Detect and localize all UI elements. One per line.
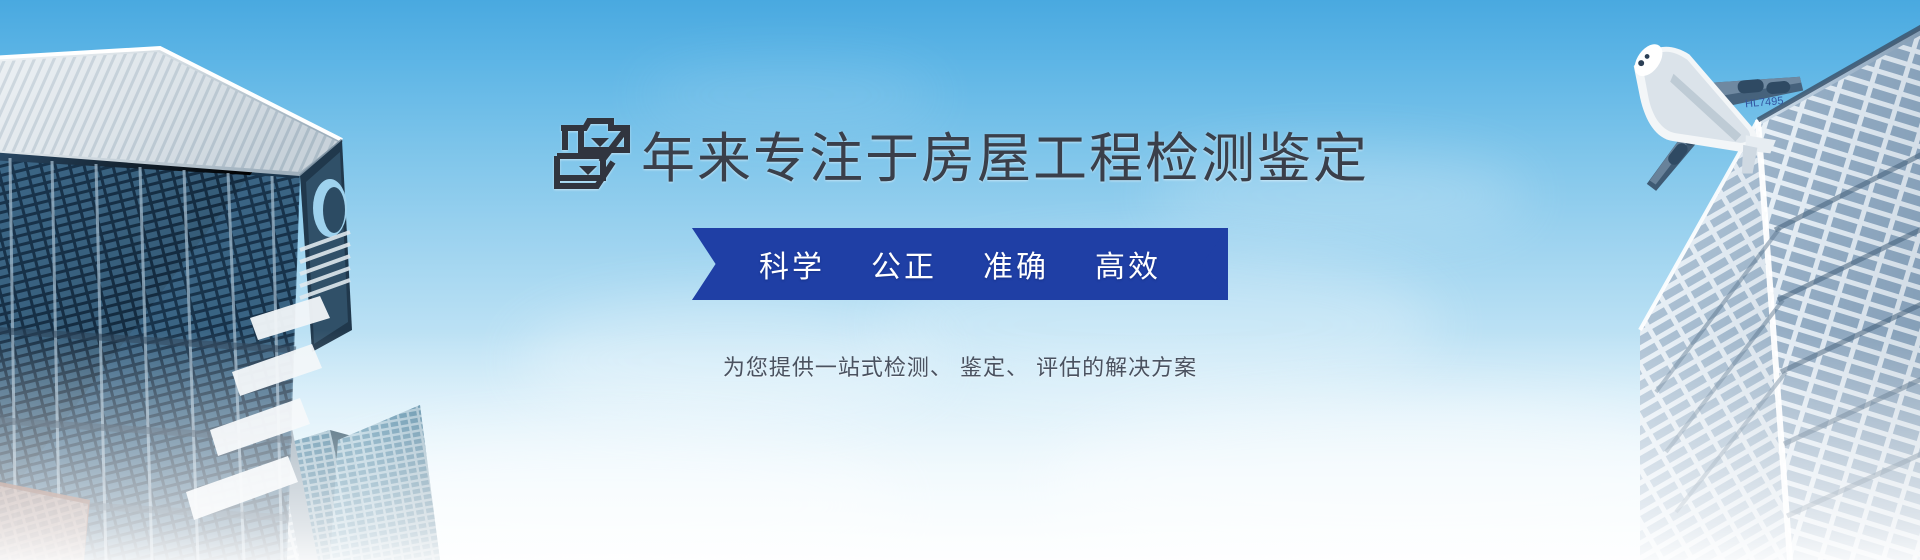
headline-text: 年来专注于房屋工程检测鉴定 [641,130,1369,188]
slogan-item-3: 高效 [1095,242,1161,286]
right-glass-tower-scene [1490,0,1920,560]
ribbon-left-notch [692,228,718,300]
hero-banner: HL7495 [0,0,1920,560]
slogan-ribbon: 科学 公正 准确 高效 [692,228,1228,300]
ribbon-right-notch [1202,228,1228,300]
stylized-duo-character-icon [551,116,637,192]
slogan-item-0: 科学 [759,242,825,286]
slogan-item-1: 公正 [871,242,937,286]
headline: 年来专注于房屋工程检测鉴定 [551,110,1369,188]
slogan-item-2: 准确 [983,242,1049,286]
cloud-decoration [300,430,900,560]
banner-content: 年来专注于房屋工程检测鉴定 科学 公正 准确 高效 为您提供一站式检测、 鉴定、… [0,0,1920,560]
slogan-list: 科学 公正 准确 高效 [759,242,1161,286]
cloud-decoration [1050,400,1750,560]
airliner-underside-icon: HL7495 [1590,6,1820,196]
subtitle-text: 为您提供一站式检测、 鉴定、 评估的解决方案 [723,350,1197,382]
aircraft-registration-text: HL7495 [1745,95,1784,110]
left-skyscraper-scene [0,0,470,560]
